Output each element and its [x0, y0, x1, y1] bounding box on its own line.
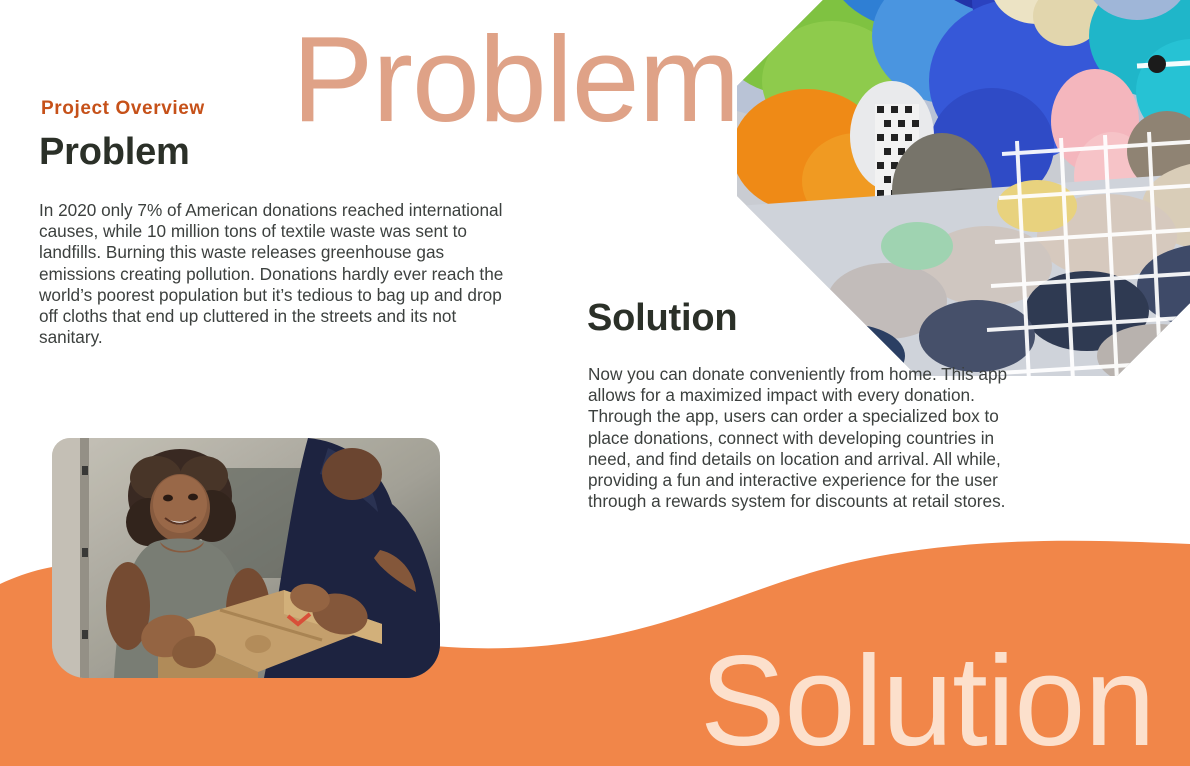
body-problem-text: In 2020 only 7% of American donations re… [39, 200, 515, 348]
textile-waste-photo-art [737, 0, 1190, 376]
body-solution-text: Now you can donate conveniently from hom… [588, 364, 1018, 512]
body-solution: Now you can donate conveniently from hom… [588, 364, 1018, 512]
body-problem: In 2020 only 7% of American donations re… [39, 200, 515, 348]
presentation-slide: Problem [0, 0, 1190, 766]
heading-problem: Problem [39, 131, 190, 174]
watermark-problem: Problem [292, 18, 739, 140]
watermark-solution: Solution [700, 638, 1155, 766]
eyebrow-project-overview: Project Overview [41, 98, 205, 120]
package-handoff-photo [52, 438, 440, 678]
package-handoff-photo-art [52, 438, 440, 678]
heading-solution: Solution [587, 297, 737, 340]
